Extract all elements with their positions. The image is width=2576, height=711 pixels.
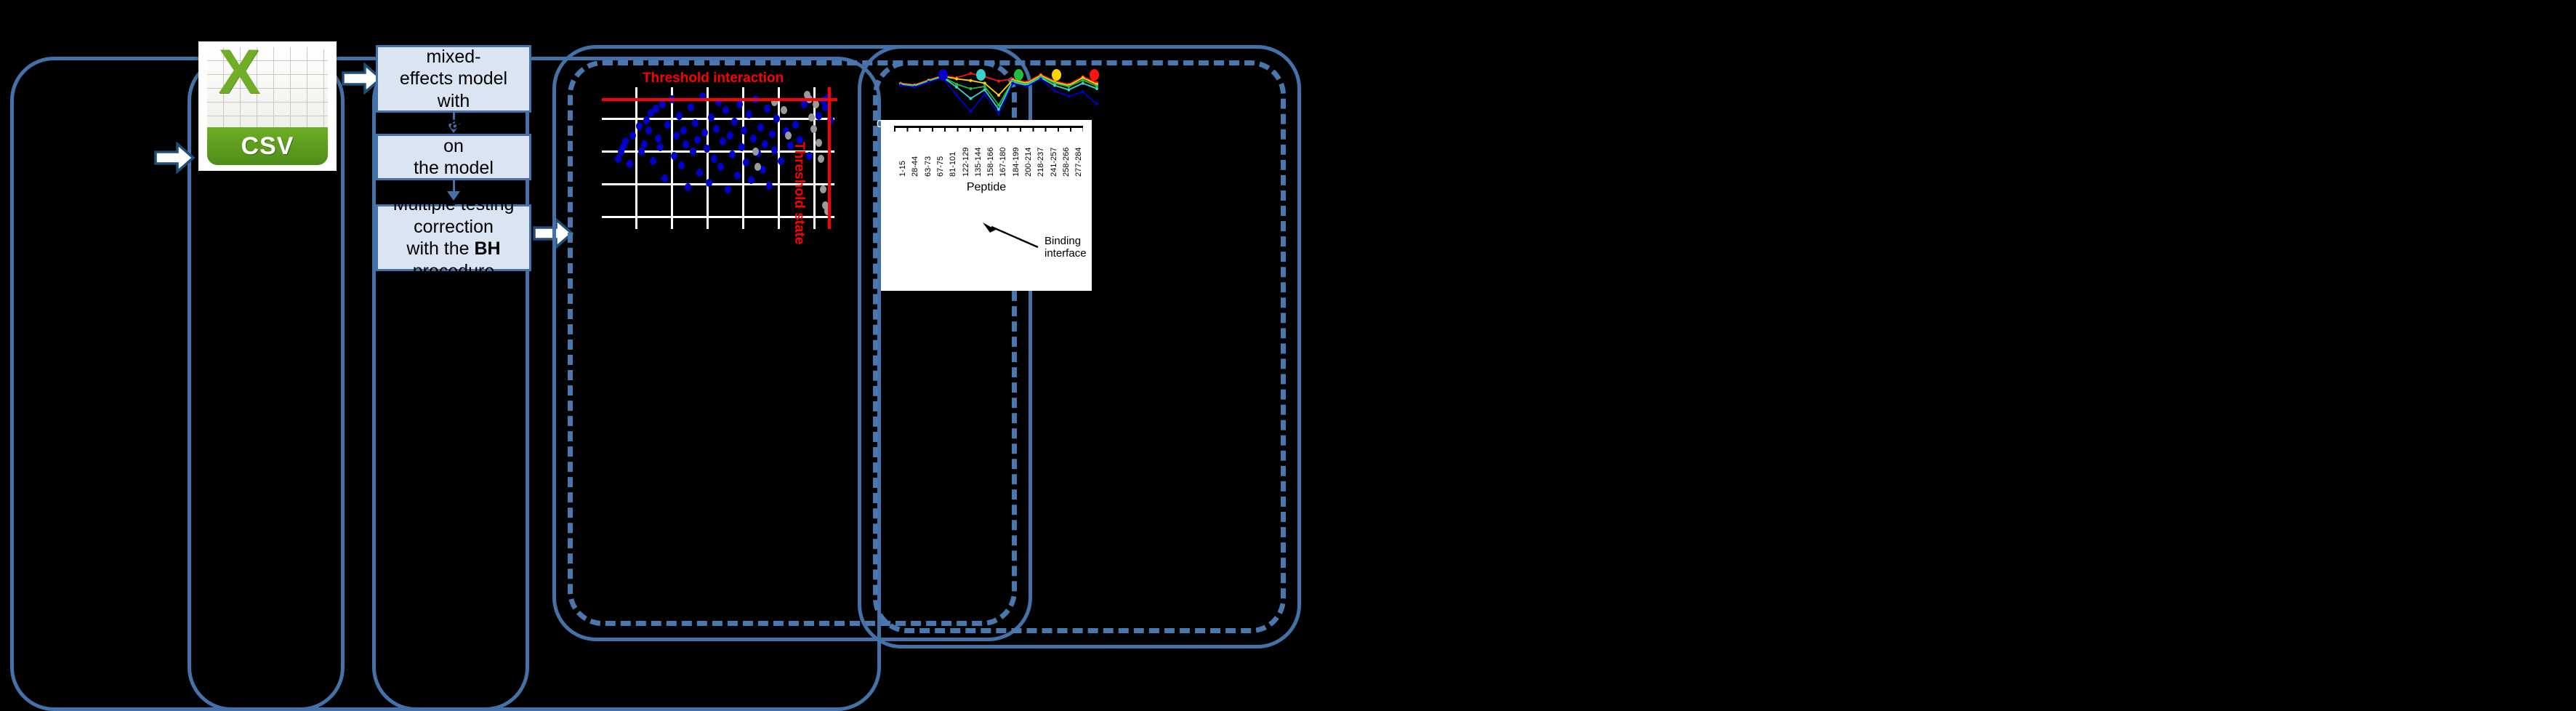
scatter-dot: [629, 132, 636, 140]
peptide-data-point: [997, 94, 1000, 97]
csv-icon-body: X CSV: [207, 47, 328, 165]
scatter-dot: [769, 130, 776, 138]
peptide-data-point: [969, 97, 972, 100]
scatter-dot: [704, 145, 710, 153]
peptide-data-point: [969, 110, 972, 113]
peptide-data-point: [955, 86, 958, 89]
scatter-dot: [615, 155, 621, 163]
peptide-tick-label: 63-73: [924, 156, 933, 177]
peptide-data-point: [1095, 87, 1098, 90]
scatter-dot: [655, 134, 661, 142]
scatter-dot: [636, 122, 643, 130]
legend-dot-series-5: [1090, 69, 1099, 81]
peptide-data-point: [983, 88, 986, 91]
legend-dot-series-2: [976, 69, 986, 81]
scatter-dot: [711, 155, 717, 163]
scatter-dot: [713, 125, 720, 133]
peptide-tick-label: 81-101: [949, 152, 957, 177]
scatter-dot: [752, 148, 759, 156]
peptide-tick-label: 241-257: [1050, 148, 1058, 177]
binding-interface-line1: Binding: [1045, 235, 1092, 247]
scatter-dot: [680, 126, 687, 134]
peptide-line-chart: [896, 58, 1101, 120]
peptide-tick-label: 135-144: [974, 148, 983, 177]
peptide-data-point: [983, 92, 986, 95]
scatter-dot: [692, 119, 699, 127]
binding-interface-line2: interface: [1045, 247, 1092, 260]
peptide-tick-label: 200-214: [1024, 148, 1033, 177]
peptide-tick-label: 167-180: [999, 148, 1007, 177]
scatter-dot: [641, 140, 648, 148]
peptide-axis-title: Peptide: [881, 181, 1092, 194]
peptide-data-point: [1067, 88, 1070, 91]
scatter-dot: [762, 140, 768, 148]
scatter-dot: [664, 121, 671, 129]
peptide-data-point: [1026, 85, 1029, 88]
scatter-dot: [746, 111, 752, 118]
peptide-tick-label: 277-284: [1074, 148, 1083, 177]
peptide-data-point: [1067, 95, 1070, 97]
slide-canvas: X CSV Fit a linear mixed-effects model w…: [0, 0, 2576, 687]
binding-interface-arrow-icon: [980, 222, 1041, 252]
scatter-dot: [688, 103, 694, 111]
scatter-dot: [678, 161, 685, 169]
scatter-dot: [690, 148, 696, 156]
scatter-dot: [810, 125, 817, 133]
scatter-dot: [622, 137, 629, 145]
excel-x-icon: X: [212, 47, 267, 100]
legend-dot-series-1: [938, 69, 948, 81]
peptide-data-point: [983, 85, 986, 88]
step-multiple-testing-box[interactable]: Multiple testingcorrectionwith the BH pr…: [376, 204, 531, 271]
scatter-dot: [766, 182, 773, 190]
scatter-dot: [653, 105, 659, 113]
peptide-data-point: [997, 112, 1000, 115]
scatter-dot: [818, 155, 824, 163]
peptide-data-point: [969, 87, 972, 90]
scatter-dot: [748, 176, 754, 184]
scatter-dot: [773, 115, 780, 123]
scatter-dot: [757, 124, 764, 132]
scatter-dot: [808, 113, 815, 121]
threshold-interaction-line: [602, 98, 837, 101]
scatter-dot: [685, 183, 691, 191]
input-to-csv-arrow: [154, 142, 195, 174]
scatter-dot: [643, 116, 650, 124]
peptide-axis-ticks: [894, 126, 1083, 132]
peptide-tick-label: 258-266: [1062, 148, 1071, 177]
scatter-dot: [729, 150, 736, 158]
threshold-state-line: [828, 87, 831, 229]
peptide-tick-label: 1-15: [898, 161, 907, 177]
scatter-dot: [734, 172, 741, 180]
scatter-dot: [741, 126, 747, 134]
peptide-data-point: [1095, 84, 1098, 87]
legend-dot-series-3: [1014, 69, 1023, 81]
peptide-data-point: [1067, 85, 1070, 88]
csv-label: CSV: [241, 132, 294, 161]
peptide-tick-labels: 1-1528-4463-7367-7581-101122-129135-1441…: [894, 134, 1087, 177]
scatter-dot: [806, 152, 813, 160]
scatter-dot: [781, 106, 787, 114]
peptide-tick-label: 184-199: [1012, 148, 1021, 177]
peptide-tick-label: 218-237: [1037, 148, 1045, 177]
step-fit-model-box[interactable]: Fit a linear mixed-effects model withREM…: [376, 45, 531, 113]
step-wald-tests-box[interactable]: Apply Wald tests onthe model parameters: [376, 134, 531, 180]
threshold-state-label: Threshold state: [791, 142, 807, 244]
scatter-dot: [771, 146, 778, 154]
threshold-interaction-label: Threshold interaction: [643, 71, 784, 87]
scatter-dot: [792, 121, 799, 129]
legend-dot-series-4: [1052, 69, 1061, 81]
peptide-data-point: [1095, 103, 1098, 105]
scatter-dot: [657, 143, 664, 151]
scatter-dot: [816, 112, 822, 120]
peptide-data-point: [899, 84, 902, 87]
scatter-dot: [645, 126, 652, 134]
scatter-dot: [706, 179, 712, 187]
peptide-data-point: [913, 86, 916, 89]
binding-interface-label: Binding interface: [1045, 235, 1092, 260]
scatter-dot: [816, 139, 822, 147]
peptide-data-point: [955, 94, 958, 97]
scatter-dot: [671, 152, 677, 160]
csv-file-icon[interactable]: X CSV: [198, 41, 337, 171]
scatter-dot: [723, 106, 729, 114]
scatter-dot: [676, 112, 683, 120]
scatter-dot: [738, 143, 745, 151]
peptide-data-point: [1053, 89, 1056, 92]
peptide-tick-label: 67-75: [936, 156, 945, 177]
peptide-data-point: [1053, 84, 1056, 87]
peptide-axis-card: 1-1528-4463-7367-7581-101122-129135-1441…: [881, 120, 1092, 291]
peptide-chart-legend: [896, 69, 1107, 84]
peptide-tick-label: 122-129: [962, 148, 970, 177]
peptide-tick-label: 28-44: [911, 156, 919, 177]
csv-label-band: CSV: [207, 127, 328, 165]
peptide-data-point: [1082, 90, 1084, 93]
step-multiple-testing-text: Multiple testingcorrectionwith the BH pr…: [382, 193, 525, 282]
peptide-tick-label: 158-166: [986, 148, 995, 177]
